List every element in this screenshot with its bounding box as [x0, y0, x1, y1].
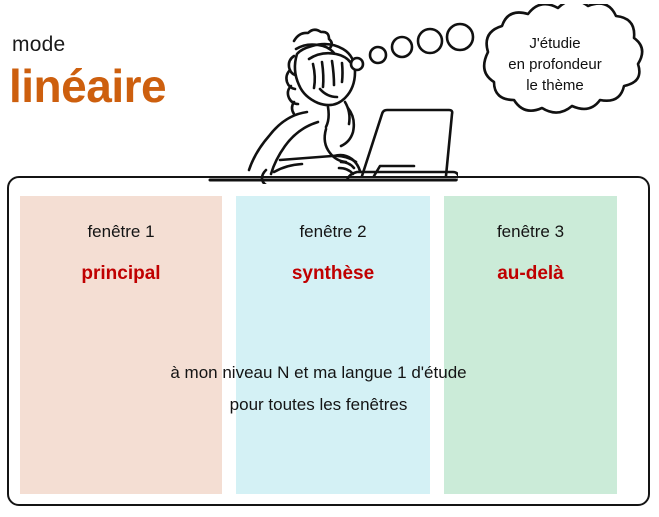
panel-3-head: fenêtre 3 au-delà: [444, 196, 617, 283]
mode-title: linéaire: [9, 63, 166, 109]
panel-3-name-label: au-delà: [444, 240, 617, 283]
panel-1-head: fenêtre 1 principal: [20, 196, 222, 283]
panel-fenetre-2[interactable]: fenêtre 2 synthèse: [236, 196, 430, 494]
thought-bubble-line-1: J'étudie: [470, 33, 640, 54]
thought-bubble-line-3: le thème: [470, 75, 640, 96]
panel-2-head: fenêtre 2 synthèse: [236, 196, 430, 283]
thought-bubble-line-2: en profondeur: [470, 54, 640, 75]
panels-caption: à mon niveau N et ma langue 1 d'étude po…: [20, 357, 617, 421]
panel-3-window-label: fenêtre 3: [444, 196, 617, 240]
panel-1-window-label: fenêtre 1: [20, 196, 222, 240]
panel-2-window-label: fenêtre 2: [236, 196, 430, 240]
panel-fenetre-3[interactable]: fenêtre 3 au-delà: [444, 196, 617, 494]
caption-line-2: pour toutes les fenêtres: [20, 389, 617, 421]
panel-1-name-label: principal: [20, 240, 222, 283]
caption-line-1: à mon niveau N et ma langue 1 d'étude: [20, 357, 617, 389]
mode-label: mode: [12, 33, 65, 57]
panels-group: fenêtre 1 principal fenêtre 2 synthèse f…: [20, 196, 617, 494]
panel-fenetre-1[interactable]: fenêtre 1 principal: [20, 196, 222, 494]
thought-bubble-text: J'étudie en profondeur le thème: [470, 33, 640, 96]
panel-2-name-label: synthèse: [236, 240, 430, 283]
slide-canvas: mode linéaire: [0, 0, 659, 517]
